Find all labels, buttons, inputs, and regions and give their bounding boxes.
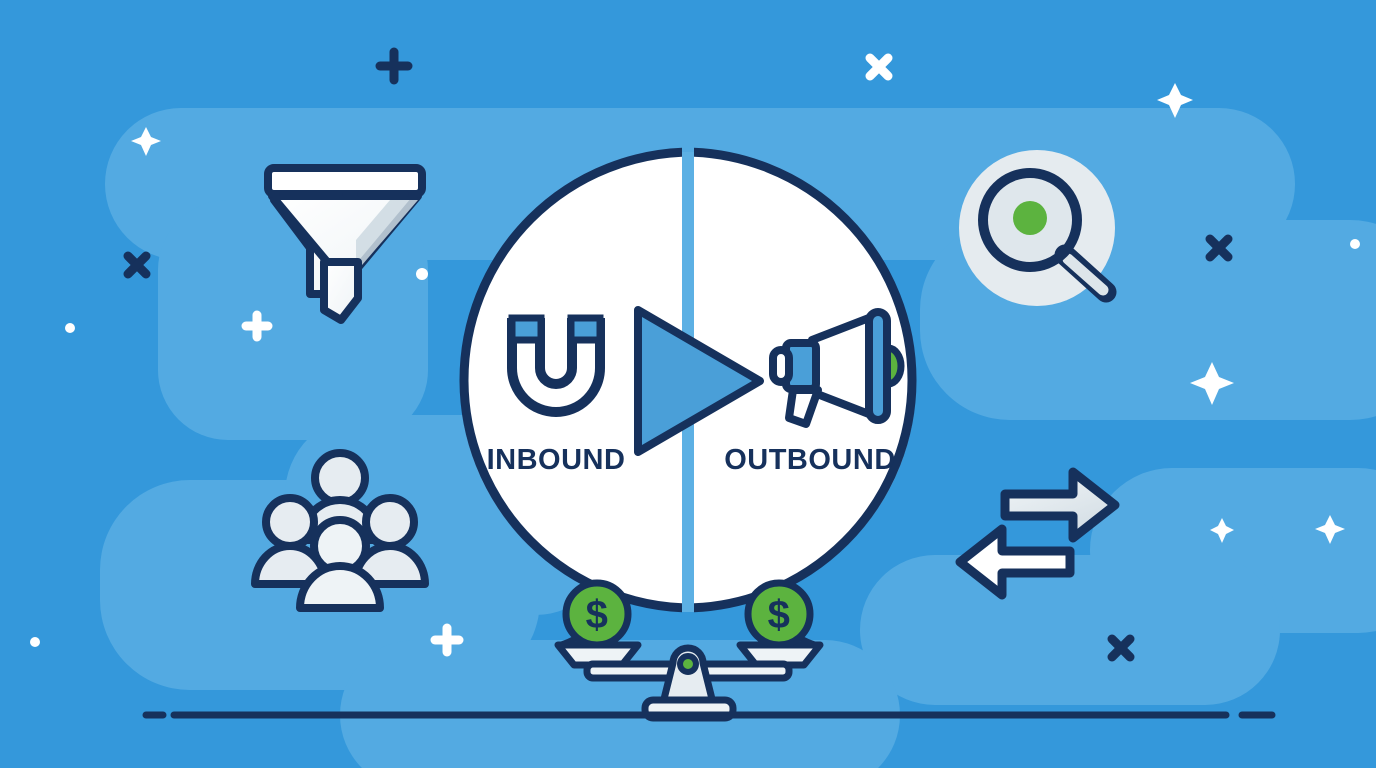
funnel-rim: [268, 168, 422, 194]
illustration-canvas: INBOUND OUTBOUND $ $: [0, 0, 1376, 768]
coin-right: $: [748, 583, 810, 645]
magnet-pole-right: [571, 318, 600, 340]
inbound-label: INBOUND: [487, 444, 626, 476]
dot-icon: [30, 637, 40, 647]
dot-icon: [1350, 239, 1360, 249]
magnet-pole-left: [512, 318, 541, 340]
outbound-label: OUTBOUND: [724, 444, 896, 476]
cross-icon: [128, 256, 146, 274]
magnifier-target-dot: [1013, 201, 1047, 235]
dot-icon: [65, 323, 75, 333]
illustration-svg: INBOUND OUTBOUND $ $: [0, 0, 1376, 768]
coin-left: $: [566, 583, 628, 645]
cross-icon: [870, 58, 888, 76]
cross-icon: [1210, 239, 1228, 257]
megaphone-mouth-rim: [869, 312, 887, 420]
dot-icon: [416, 268, 428, 280]
scale-pivot-dot: [680, 656, 696, 672]
megaphone-back-cap: [773, 350, 789, 382]
coin-left-symbol: $: [586, 593, 609, 637]
cross-icon: [1112, 639, 1130, 657]
coin-right-symbol: $: [768, 593, 791, 637]
magnifier-icon: [959, 150, 1115, 306]
